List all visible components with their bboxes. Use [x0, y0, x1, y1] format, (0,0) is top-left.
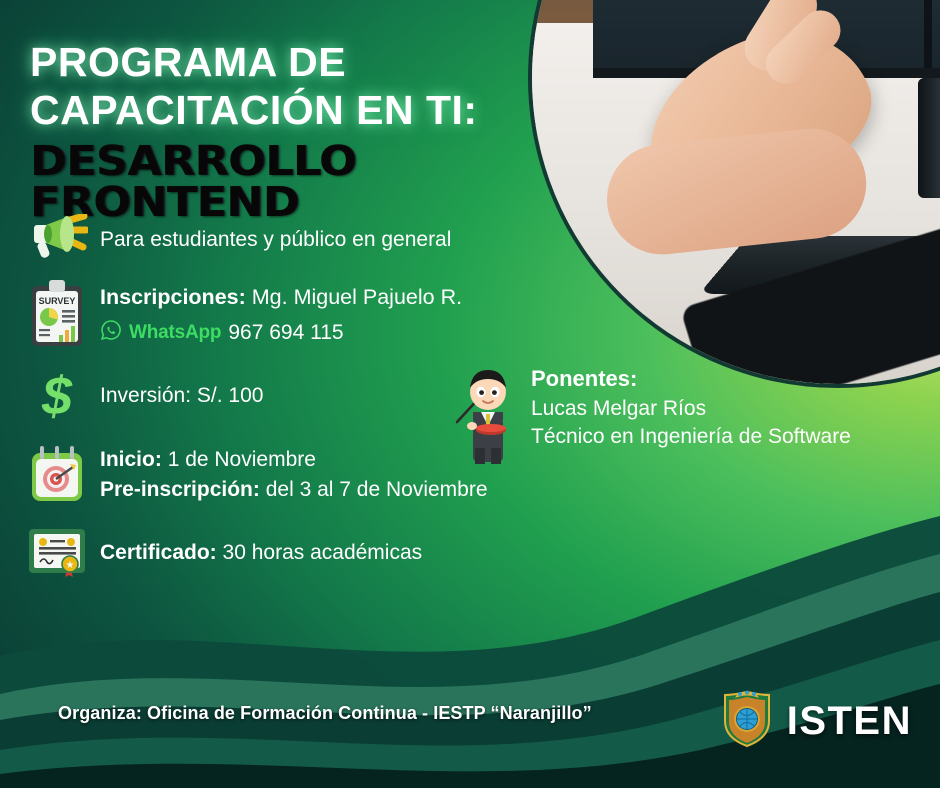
megaphone-icon [14, 214, 100, 266]
info-row-audience: Para estudiantes y público en general [14, 212, 574, 268]
headline-line-2: CAPACITACIÓN EN TI: [30, 86, 590, 134]
survey-clipboard-icon: SURVEY [14, 279, 100, 349]
monitor-bezel-divider [924, 0, 932, 68]
inversion-text: Inversión: S/. 100 [100, 381, 263, 411]
preinscripcion-label: Pre-inscripción: [100, 478, 260, 501]
inicio-line: Inicio: 1 de Noviembre [100, 445, 488, 475]
audience-text: Para estudiantes y público en general [100, 225, 451, 255]
info-row-certificado: ★ Certificado: 30 horas académicas [14, 518, 574, 588]
info-row-inscripciones: SURVEY Inscripciones: Mg. Miguel Pajue [14, 272, 574, 356]
whatsapp-label: WhatsApp [129, 322, 221, 344]
inscripciones-block: Inscripciones: Mg. Miguel Pajuelo R. Wha… [100, 282, 462, 347]
page-title: PROGRAMA DE CAPACITACIÓN EN TI: DESARROL… [30, 38, 590, 223]
certificado-label: Certificado: [100, 541, 217, 564]
speakers-block: Ponentes: Lucas Melgar Ríos Técnico en I… [455, 362, 851, 471]
speaker-name: Lucas Melgar Ríos [531, 395, 851, 423]
teacher-presenter-icon [455, 362, 521, 471]
certificate-icon: ★ [14, 525, 100, 581]
preinscripcion-value: del 3 al 7 de Noviembre [266, 478, 488, 501]
organizer-text: Organiza: Oficina de Formación Continua … [58, 703, 592, 724]
whatsapp-number: 967 694 115 [228, 321, 343, 345]
whatsapp-line[interactable]: WhatsApp 967 694 115 [100, 319, 462, 346]
svg-text:★: ★ [66, 560, 75, 571]
brand-name: ISTEN [787, 699, 912, 744]
inscripciones-line: Inscripciones: Mg. Miguel Pajuelo R. [100, 282, 462, 313]
headline-subtitle: DESARROLLO FRONTEND [30, 141, 635, 223]
headline-line-1: PROGRAMA DE [30, 38, 590, 86]
svg-text:SURVEY: SURVEY [39, 296, 76, 306]
certificado-line: Certificado: 30 horas académicas [100, 538, 422, 568]
inscripciones-value: Mg. Miguel Pajuelo R. [252, 285, 462, 309]
svg-text:$: $ [41, 366, 73, 426]
speaker-role: Técnico en Ingeniería de Software [531, 423, 851, 451]
monitor-stand-neck [918, 78, 940, 198]
speakers-title: Ponentes: [531, 366, 851, 392]
poster-root: setInterval (runTheClock, 1000); fonts 4… [0, 0, 940, 788]
money-dollar-icon: $ [14, 366, 100, 426]
whatsapp-icon [100, 319, 122, 346]
preinscripcion-line: Pre-inscripción: del 3 al 7 de Noviembre [100, 475, 488, 505]
certificado-value: 30 horas académicas [223, 541, 423, 564]
calendar-target-icon [14, 443, 100, 507]
inscripciones-label: Inscripciones: [100, 285, 246, 309]
fechas-block: Inicio: 1 de Noviembre Pre-inscripción: … [100, 445, 488, 505]
brand-block: ISTEN [721, 690, 912, 753]
isten-crest-logo [721, 690, 773, 753]
inicio-value: 1 de Noviembre [168, 448, 316, 471]
inicio-label: Inicio: [100, 448, 162, 471]
speakers-text: Ponentes: Lucas Melgar Ríos Técnico en I… [531, 362, 851, 451]
